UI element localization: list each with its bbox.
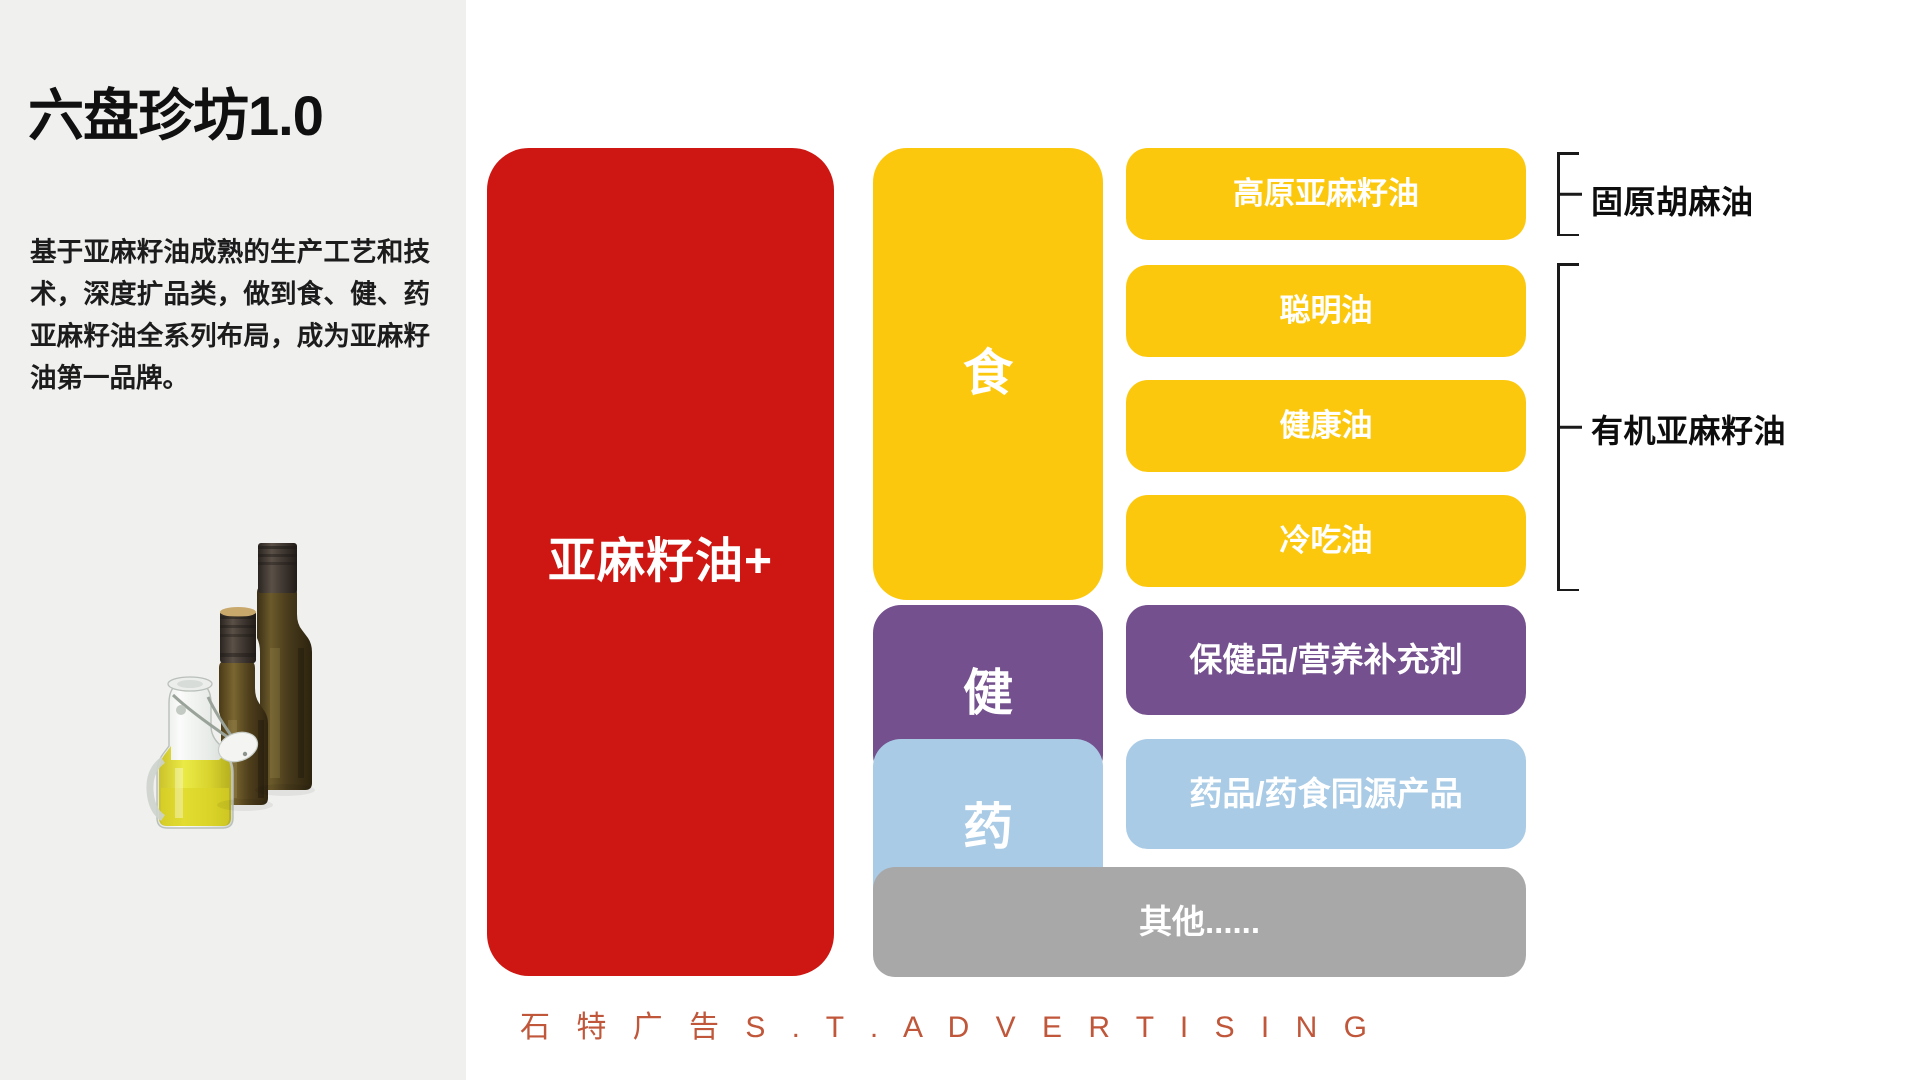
bracket-tick [1560, 193, 1582, 196]
bracket-cap-bottom [1557, 589, 1579, 592]
sub-node-gaoyuan-yamazi-you[interactable]: 高原亚麻籽油 [1126, 148, 1526, 240]
sub-node-lengchi-you[interactable]: 冷吃油 [1126, 495, 1526, 587]
footer-agency-credit: 石 特 广 告 S . T . A D V E R T I S I N G [520, 1002, 1376, 1046]
category-node-shi[interactable]: 食 [873, 148, 1103, 600]
bracket-tick [1560, 426, 1582, 429]
slide-canvas: 六盘珍坊1.0 基于亚麻籽油成熟的生产工艺和技术，深度扩品类，做到食、健、药亚麻… [0, 0, 1920, 1080]
bracket-label-guyuan: 固原胡麻油 [1591, 177, 1754, 223]
bracket-cap-top [1557, 152, 1579, 155]
sub-node-health-supplements[interactable]: 保健品/营养补充剂 [1126, 605, 1526, 715]
bracket-label-youji: 有机亚麻籽油 [1591, 406, 1786, 452]
sub-node-jiankang-you[interactable]: 健康油 [1126, 380, 1526, 472]
sub-node-medicine-products[interactable]: 药品/药食同源产品 [1126, 739, 1526, 849]
root-node-flaxseed-oil-plus[interactable]: 亚麻籽油+ [487, 148, 834, 976]
sub-node-congming-you[interactable]: 聪明油 [1126, 265, 1526, 357]
bracket-cap-bottom [1557, 234, 1579, 237]
sub-node-other[interactable]: 其他...... [873, 867, 1526, 977]
product-architecture-diagram: 亚麻籽油+ 食 健 药 高原亚麻籽油 聪明油 健康油 冷吃油 保健品/营养补充剂… [0, 0, 1920, 1080]
bracket-cap-top [1557, 263, 1579, 266]
